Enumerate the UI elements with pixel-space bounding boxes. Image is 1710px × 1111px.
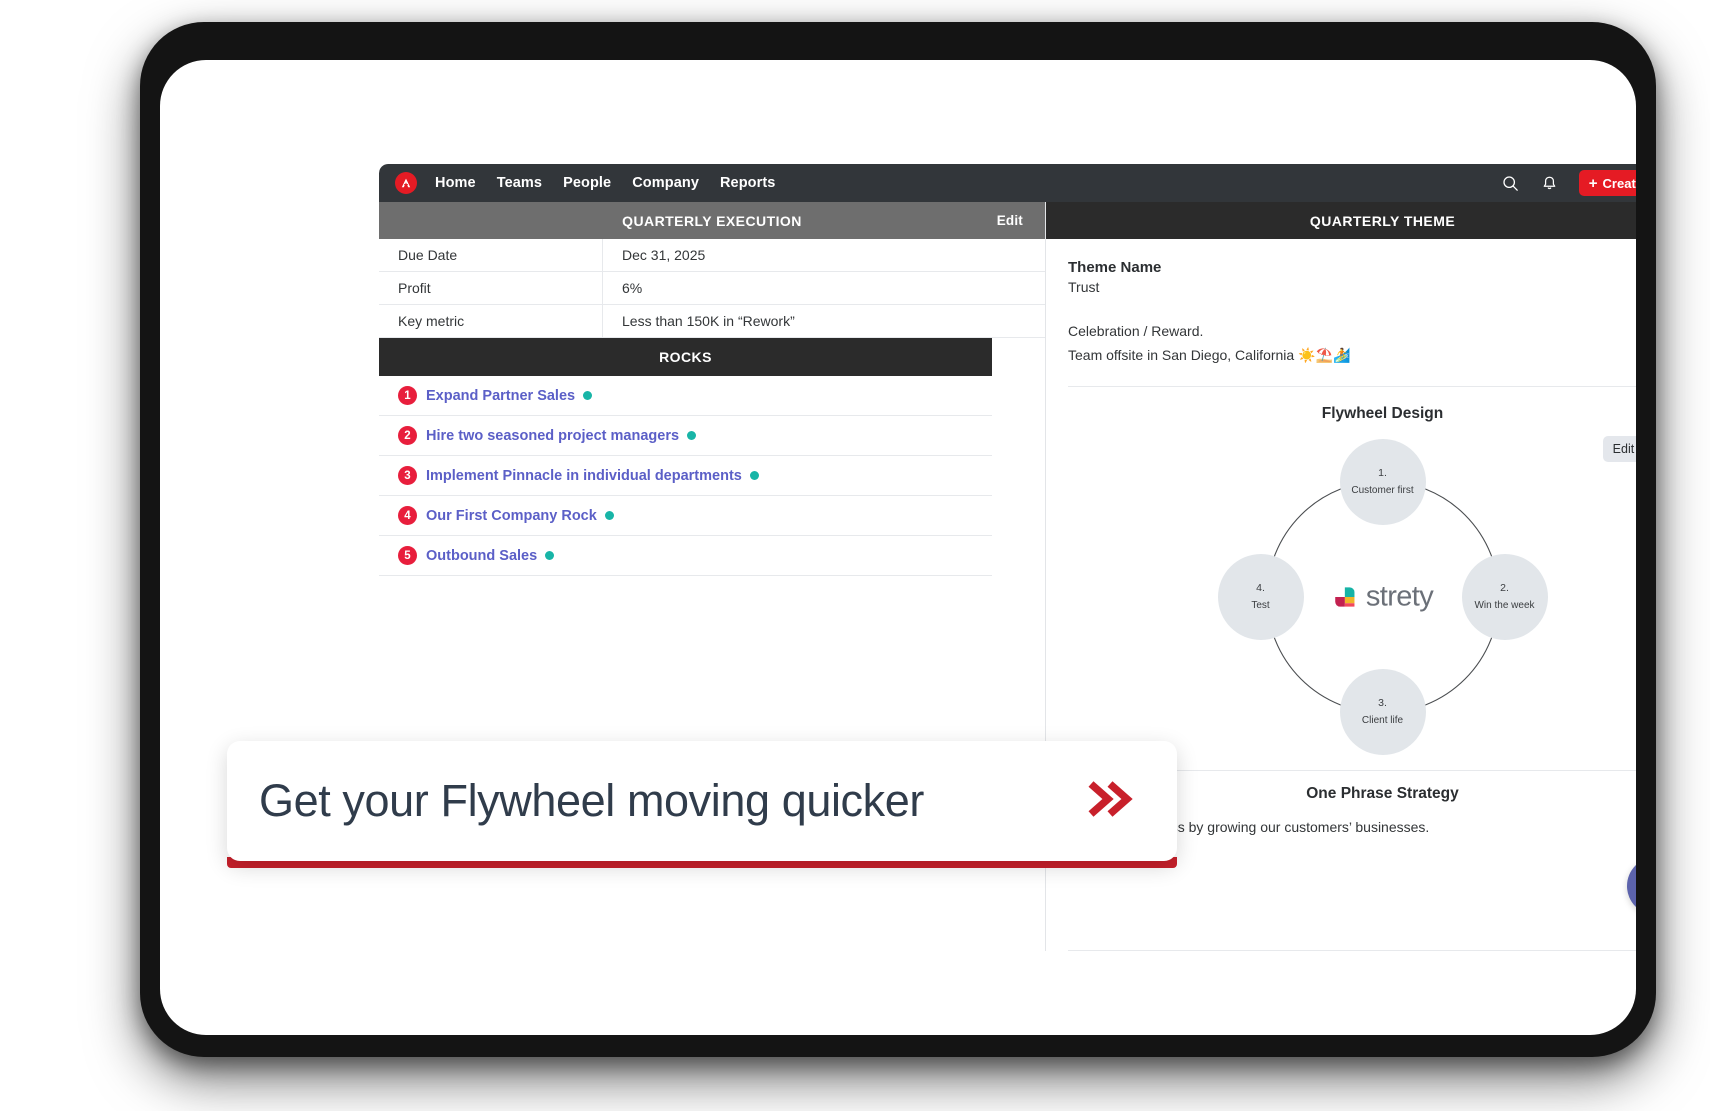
bell-icon[interactable] bbox=[1537, 170, 1563, 196]
offsite-line: Team offsite in San Diego, California ☀️… bbox=[1068, 347, 1636, 364]
flywheel-diagram: 1. Customer first 2. Win the week 3. Cli… bbox=[1218, 439, 1548, 755]
create-button[interactable]: + Create bbox=[1579, 170, 1636, 196]
nav-link-reports[interactable]: Reports bbox=[720, 175, 776, 191]
nav-link-home[interactable]: Home bbox=[435, 175, 476, 191]
flywheel-section: Flywheel Design Edit Flywheel 1. Custome… bbox=[1046, 387, 1636, 755]
table-row: Key metric Less than 150K in “Rework” bbox=[379, 305, 1045, 338]
search-icon[interactable] bbox=[1498, 170, 1524, 196]
device-frame: Home Teams People Company Reports bbox=[140, 22, 1656, 1057]
rock-title[interactable]: Outbound Sales bbox=[426, 548, 537, 564]
node-label: Client life bbox=[1357, 715, 1408, 727]
create-button-label: Create bbox=[1603, 176, 1636, 191]
chat-bubble-icon[interactable] bbox=[1627, 857, 1636, 915]
node-number: 4. bbox=[1256, 582, 1265, 594]
double-chevron-right-icon[interactable] bbox=[1083, 776, 1135, 827]
status-dot-icon bbox=[687, 431, 696, 440]
list-item[interactable]: 2 Hire two seasoned project managers bbox=[379, 416, 992, 456]
row-value: Dec 31, 2025 bbox=[603, 239, 1045, 271]
top-navigation-bar: Home Teams People Company Reports bbox=[379, 164, 1636, 202]
node-label: Customer first bbox=[1346, 485, 1418, 497]
rock-title[interactable]: Our First Company Rock bbox=[426, 508, 597, 524]
rocks-header: ROCKS bbox=[379, 338, 992, 376]
rock-title[interactable]: Expand Partner Sales bbox=[426, 388, 575, 404]
node-label: Win the week bbox=[1469, 600, 1539, 612]
node-label: Test bbox=[1246, 600, 1274, 612]
flywheel-node-4[interactable]: 4. Test bbox=[1218, 554, 1304, 640]
flywheel-node-2[interactable]: 2. Win the week bbox=[1462, 554, 1548, 640]
table-row: Due Date Dec 31, 2025 bbox=[379, 239, 1045, 272]
list-item[interactable]: 4 Our First Company Rock bbox=[379, 496, 992, 536]
table-row: Profit 6% bbox=[379, 272, 1045, 305]
quarterly-theme-title: QUARTERLY THEME bbox=[1310, 213, 1455, 229]
rock-number-badge: 4 bbox=[398, 506, 417, 525]
overlay-banner-text: Get your Flywheel moving quicker bbox=[259, 775, 1083, 827]
edit-flywheel-button[interactable]: Edit Flywheel bbox=[1603, 436, 1636, 462]
rock-number-badge: 3 bbox=[398, 466, 417, 485]
rock-number-badge: 2 bbox=[398, 426, 417, 445]
node-number: 2. bbox=[1500, 582, 1509, 594]
flywheel-node-3[interactable]: 3. Client life bbox=[1340, 669, 1426, 755]
list-item[interactable]: 3 Implement Pinnacle in individual depar… bbox=[379, 456, 992, 496]
quarterly-execution-table: Due Date Dec 31, 2025 Profit 6% Key metr… bbox=[379, 239, 1045, 338]
rock-number-badge: 5 bbox=[398, 546, 417, 565]
theme-block: Theme Name Trust Celebration / Reward. T… bbox=[1046, 239, 1636, 387]
quarterly-theme-header: QUARTERLY THEME Edit bbox=[1046, 202, 1636, 239]
strety-a-logo-icon[interactable] bbox=[395, 172, 417, 194]
theme-name-label: Theme Name bbox=[1068, 259, 1636, 276]
theme-name-value: Trust bbox=[1068, 279, 1636, 295]
plus-icon: + bbox=[1589, 176, 1598, 191]
list-item[interactable]: 5 Outbound Sales bbox=[379, 536, 992, 576]
quarterly-execution-header: QUARTERLY EXECUTION Edit bbox=[379, 202, 1045, 239]
status-dot-icon bbox=[605, 511, 614, 520]
divider bbox=[1068, 950, 1636, 951]
quarterly-execution-title: QUARTERLY EXECUTION bbox=[622, 213, 802, 229]
status-dot-icon bbox=[545, 551, 554, 560]
rocks-list: 1 Expand Partner Sales 2 Hire two season… bbox=[379, 376, 1045, 576]
quarterly-execution-edit-button[interactable]: Edit bbox=[997, 213, 1023, 228]
status-dot-icon bbox=[750, 471, 759, 480]
row-label: Due Date bbox=[379, 239, 603, 271]
rock-number-badge: 1 bbox=[398, 386, 417, 405]
overlay-banner[interactable]: Get your Flywheel moving quicker bbox=[227, 741, 1177, 861]
status-dot-icon bbox=[583, 391, 592, 400]
strety-wordmark: strety bbox=[1366, 581, 1433, 614]
strety-brand-center: strety bbox=[1332, 581, 1433, 614]
row-value: 6% bbox=[603, 272, 1045, 304]
row-label: Key metric bbox=[379, 305, 603, 337]
list-item[interactable]: 1 Expand Partner Sales bbox=[379, 376, 992, 416]
device-screen: Home Teams People Company Reports bbox=[160, 60, 1636, 1035]
strety-logo-icon bbox=[1332, 585, 1357, 610]
rock-title[interactable]: Implement Pinnacle in individual departm… bbox=[426, 468, 742, 484]
flywheel-title: Flywheel Design bbox=[1046, 405, 1636, 423]
nav-link-teams[interactable]: Teams bbox=[497, 175, 542, 191]
node-number: 3. bbox=[1378, 697, 1387, 709]
flywheel-node-1[interactable]: 1. Customer first bbox=[1340, 439, 1426, 525]
nav-link-company[interactable]: Company bbox=[632, 175, 699, 191]
rock-title[interactable]: Hire two seasoned project managers bbox=[426, 428, 679, 444]
row-value: Less than 150K in “Rework” bbox=[603, 305, 1045, 337]
row-label: Profit bbox=[379, 272, 603, 304]
node-number: 1. bbox=[1378, 467, 1387, 479]
nav-link-people[interactable]: People bbox=[563, 175, 611, 191]
celebration-line: Celebration / Reward. bbox=[1068, 323, 1636, 339]
